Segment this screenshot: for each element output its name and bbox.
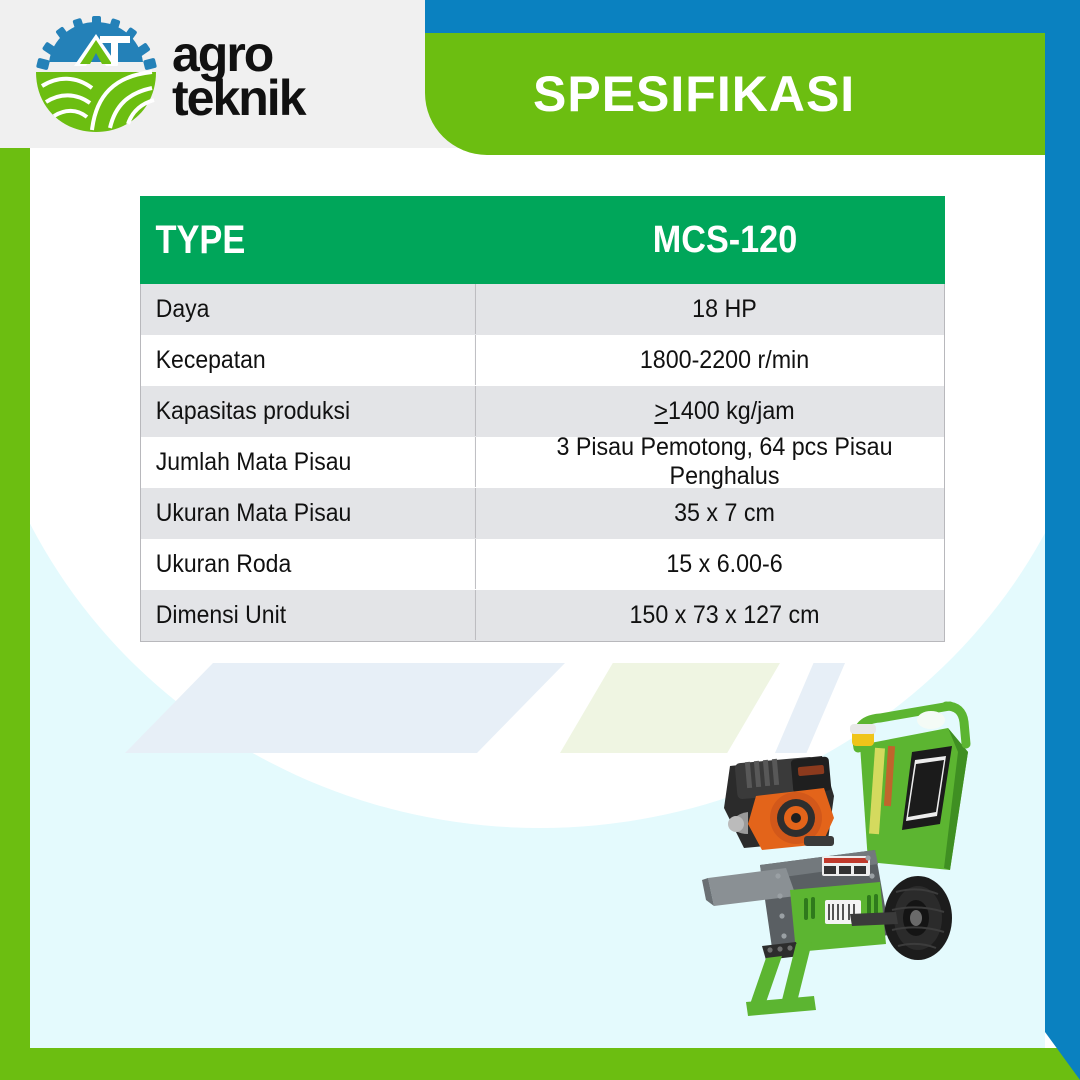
- spec-label: Daya: [141, 284, 476, 334]
- table-row: Kecepatan 1800-2200 r/min: [141, 335, 944, 386]
- brand-name-line2: teknik: [172, 76, 305, 120]
- frame-left-bar: [0, 148, 30, 1080]
- table-row: Dimensi Unit 150 x 73 x 127 cm: [141, 590, 944, 641]
- spec-table-body: Daya 18 HP Kecepatan 1800-2200 r/min Kap…: [140, 284, 945, 642]
- spec-header-value: MCS-120: [527, 219, 923, 262]
- spec-value: 18 HP: [520, 284, 928, 334]
- spec-label: Kapasitas produksi: [141, 386, 476, 436]
- spec-value: 3 Pisau Pemotong, 64 pcs Pisau Penghalus: [520, 437, 928, 487]
- spec-label: Ukuran Mata Pisau: [141, 488, 476, 538]
- table-row: Kapasitas produksi > 1400 kg/jam: [141, 386, 944, 437]
- spec-value: > 1400 kg/jam: [520, 386, 928, 436]
- frame-bottom-bar: [0, 1048, 1080, 1080]
- spec-sheet-page: SPESIFIKASI: [0, 0, 1080, 1080]
- brand-name: agro teknik: [172, 32, 305, 120]
- spec-value: 35 x 7 cm: [520, 488, 928, 538]
- spec-value-text: 1400 kg/jam: [668, 397, 795, 426]
- spec-header-label: TYPE: [140, 218, 454, 263]
- spec-label: Kecepatan: [141, 335, 476, 385]
- spec-value: 150 x 73 x 127 cm: [520, 590, 928, 640]
- page-title: SPESIFIKASI: [425, 33, 1080, 155]
- table-row: Daya 18 HP: [141, 284, 944, 335]
- spec-label: Ukuran Roda: [141, 539, 476, 589]
- spec-label: Jumlah Mata Pisau: [141, 437, 476, 487]
- table-row: Ukuran Mata Pisau 35 x 7 cm: [141, 488, 944, 539]
- wood-chipper-machine-image: [700, 700, 1000, 1020]
- table-row: Jumlah Mata Pisau 3 Pisau Pemotong, 64 p…: [141, 437, 944, 488]
- header-accent-bar: [425, 0, 1080, 34]
- spec-value: 15 x 6.00-6: [520, 539, 928, 589]
- spec-value: 1800-2200 r/min: [520, 335, 928, 385]
- spec-label: Dimensi Unit: [141, 590, 476, 640]
- brand-logo: agro teknik: [32, 14, 392, 138]
- table-row: Ukuran Roda 15 x 6.00-6: [141, 539, 944, 590]
- greater-than-equal-symbol: >: [654, 397, 668, 426]
- specification-table: TYPE MCS-120 Daya 18 HP Kecepatan 1800-2…: [140, 196, 945, 642]
- spec-table-header-row: TYPE MCS-120: [140, 196, 945, 284]
- agro-teknik-logo-icon: [32, 16, 160, 136]
- header-banner: SPESIFIKASI: [425, 33, 1080, 155]
- frame-right-accent-bar: [1045, 0, 1080, 1080]
